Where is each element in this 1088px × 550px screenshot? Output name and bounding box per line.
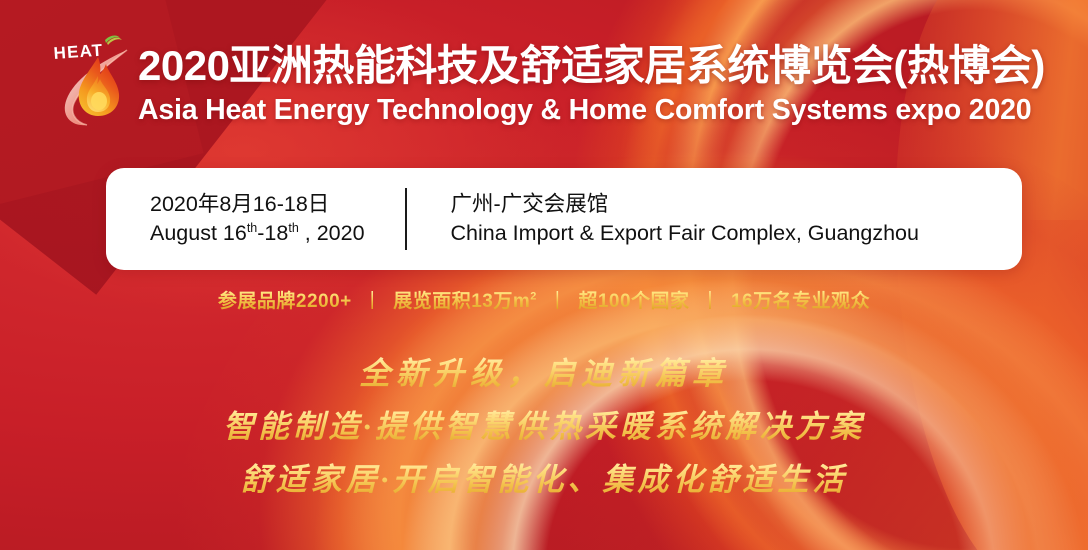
stat-separator-1: | xyxy=(366,289,379,311)
title-chinese: 2020亚洲热能科技及舒适家居系统博览会(热博会) xyxy=(138,44,1068,89)
date-english-mid: -18 xyxy=(257,221,288,245)
svg-text:HEAT: HEAT xyxy=(53,41,104,63)
stat-separator-2: | xyxy=(551,289,564,311)
title-english: Asia Heat Energy Technology & Home Comfo… xyxy=(138,95,1068,126)
stat-exhibition-area-text: 展览面积13万m xyxy=(393,291,530,312)
date-ordinal-suffix-2: th xyxy=(288,221,298,235)
venue-column: 广州-广交会展馆 China Import & Export Fair Comp… xyxy=(407,190,919,248)
stats-strip: 参展品牌2200+ | 展览面积13万m2 | 超100个国家 | 16万名专业… xyxy=(0,286,1088,313)
stat-area-superscript: 2 xyxy=(530,291,537,303)
venue-english: China Import & Export Fair Complex, Guan… xyxy=(451,219,919,248)
date-english-prefix: August 16 xyxy=(150,221,247,245)
date-column: 2020年8月16-18日 August 16th-18th , 2020 xyxy=(106,190,365,248)
stat-brands: 参展品牌2200+ xyxy=(204,286,366,313)
date-chinese: 2020年8月16-18日 xyxy=(150,190,365,219)
heat-flame-droplet-logo: HEAT xyxy=(34,24,146,136)
date-ordinal-suffix-1: th xyxy=(247,221,257,235)
date-english: August 16th-18th , 2020 xyxy=(150,219,365,248)
stat-countries: 超100个国家 xyxy=(564,286,703,313)
stat-separator-3: | xyxy=(704,289,717,311)
expo-banner: HEAT 2020亚洲热能科技及舒适家居系统博览会(热博会) Asia Heat… xyxy=(0,0,1088,550)
stat-exhibition-area: 展览面积13万m2 xyxy=(379,286,551,313)
slogan-line-2: 智能制造·提供智慧供热采暖系统解决方案 xyxy=(0,403,1088,450)
date-english-year: , 2020 xyxy=(299,221,365,245)
slogan-block: 全新升级，启迪新篇章 智能制造·提供智慧供热采暖系统解决方案 舒适家居·开启智能… xyxy=(0,352,1088,503)
slogan-line-3: 舒适家居·开启智能化、集成化舒适生活 xyxy=(0,456,1088,503)
venue-chinese: 广州-广交会展馆 xyxy=(451,190,919,219)
stat-visitors: 16万名专业观众 xyxy=(717,286,884,313)
event-info-card: 2020年8月16-18日 August 16th-18th , 2020 广州… xyxy=(106,168,1022,270)
slogan-line-1: 全新升级，启迪新篇章 xyxy=(0,352,1088,397)
title-block: 2020亚洲热能科技及舒适家居系统博览会(热博会) Asia Heat Ener… xyxy=(138,44,1068,126)
